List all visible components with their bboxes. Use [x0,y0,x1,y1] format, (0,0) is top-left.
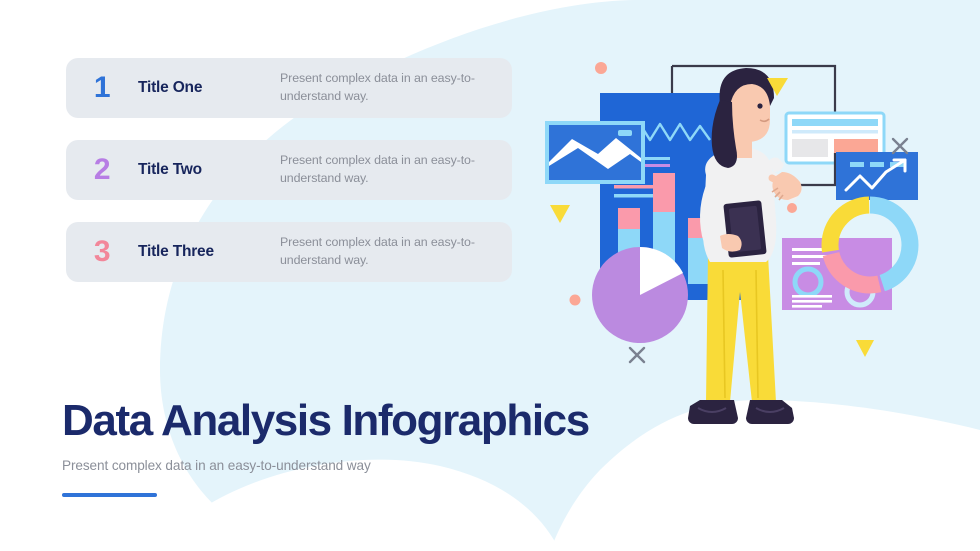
dashboard-line-5 [792,300,832,303]
photo-card [545,121,645,184]
character-eye [757,103,762,108]
numbered-card-list: 1 Title One Present complex data in an e… [66,58,512,304]
sparkle-right [893,139,907,153]
dashboard-line-4 [792,295,832,298]
card-description-2: Present complex data in an easy-to-under… [280,152,512,187]
card-item-1[interactable]: 1 Title One Present complex data in an e… [66,58,512,118]
card-title-3: Title Three [138,243,280,261]
card-number-2: 2 [66,155,138,185]
card-title-2: Title Two [138,161,280,179]
form-card-sub-bar [792,130,878,134]
title-underline-rule [62,493,157,497]
card-item-2[interactable]: 2 Title Two Present complex data in an e… [66,140,512,200]
card-title-1: Title One [138,79,280,97]
data-analyst-illustration [520,40,970,440]
line-widget-tick-2 [870,162,884,167]
form-card-header-bar [792,119,878,126]
line-chart-widget [836,152,918,200]
card-number-3: 3 [66,237,138,267]
dashboard-line-6 [792,305,822,308]
dashboard-line-3 [792,262,820,265]
board-text-line-3 [614,185,656,189]
yellow-triangle-bottom [856,340,874,357]
yellow-triangle-left [550,205,570,223]
character-trousers [706,255,776,402]
pink-dot-left [570,295,581,306]
slide-canvas: 1 Title One Present complex data in an e… [0,0,980,551]
illustration-container [520,40,970,440]
card-number-1: 1 [66,73,138,103]
page-subtitle: Present complex data in an easy-to-under… [62,458,702,473]
form-card-block-gray [792,139,828,157]
card-description-3: Present complex data in an easy-to-under… [280,234,512,269]
card-description-1: Present complex data in an easy-to-under… [280,70,512,105]
pink-dot-top [595,62,607,74]
pie-chart [592,247,688,343]
bar-2-top [653,173,675,212]
pink-dot-mid [787,203,797,213]
line-widget-tick-1 [850,162,864,167]
board-text-line-4 [614,194,656,198]
card-item-3[interactable]: 3 Title Three Present complex data in an… [66,222,512,282]
photo-card-badge [618,130,632,136]
sparkle-bottom [630,348,644,362]
dashboard-line-2 [792,255,828,258]
bar-1-top [618,208,640,229]
